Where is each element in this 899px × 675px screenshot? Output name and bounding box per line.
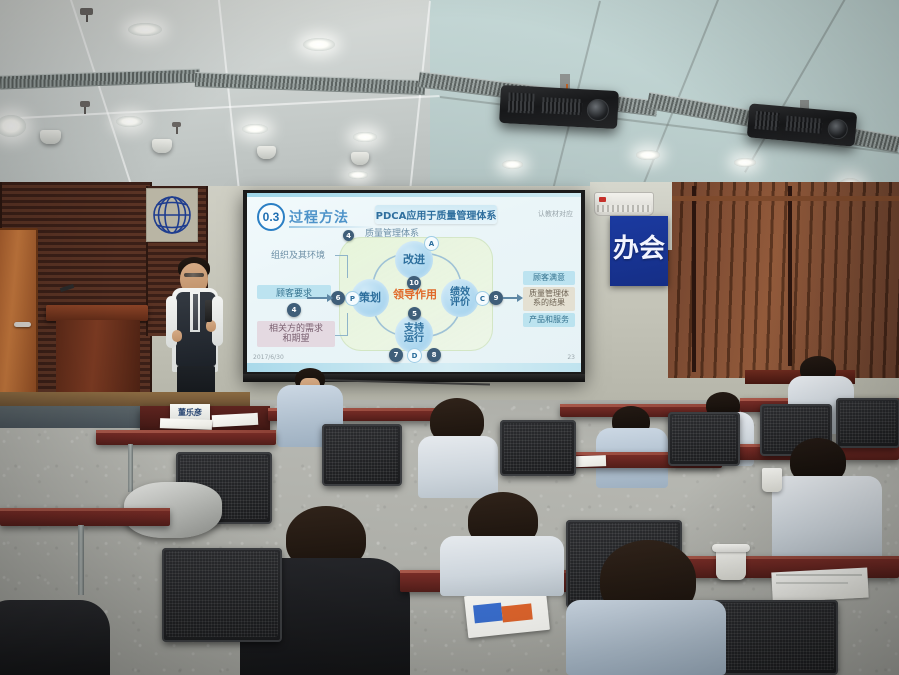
audience-member-7	[772, 476, 882, 562]
slide-section-number: 0.3	[257, 203, 285, 231]
pdca-node-plan-letter: P	[345, 291, 360, 306]
slide-banner-title: PDCA应用于质量管理体系	[375, 205, 497, 224]
chair[interactable]	[836, 398, 899, 448]
paper-stack	[212, 413, 259, 427]
wood-panel-texture	[668, 182, 899, 378]
sprinkler-head	[80, 101, 90, 107]
ceiling-downlight	[303, 38, 335, 51]
pdca-node-do-badge-left: 7	[389, 348, 403, 362]
title-underline	[289, 226, 375, 228]
slide-section-title: 过程方法	[289, 207, 349, 227]
ceiling-downlight	[502, 160, 523, 169]
booklet-cover-orange	[501, 603, 533, 622]
pdca-node-act-letter: A	[424, 236, 439, 251]
desk-leg	[128, 444, 133, 492]
node-plan-label: 策划	[359, 292, 381, 304]
qms-label: 质量管理体系	[357, 229, 427, 239]
pdca-node-plan-badge: 6	[331, 291, 345, 305]
pdca-node-check-badge: 9	[489, 291, 503, 305]
connector-arrow-line	[307, 297, 329, 299]
desk-row2-left	[96, 430, 276, 445]
presenter-tie	[193, 294, 198, 330]
globe-icon	[147, 189, 197, 241]
output-qms-results-line2: 系的结果	[533, 299, 565, 308]
ceiling-downlight	[636, 150, 660, 160]
conference-room-photo: 办会 0.3 过程方法 PDCA应用于质量管理体系 认教材对应 4 质量管理体系	[0, 0, 899, 675]
input-interested-line2: 和期望	[282, 334, 309, 344]
output-products-services: 产品和服务	[523, 313, 575, 327]
slide-bottom-bar	[247, 363, 581, 372]
presenter-glasses-icon	[184, 273, 204, 277]
floor-baseboard	[0, 392, 250, 406]
output-qms-results: 质量管理体 系的结果	[523, 287, 575, 311]
wall-banner: 办会	[610, 216, 668, 286]
slide-footer-left: 2017/6/30	[253, 354, 284, 361]
slide-footer-right: 23	[567, 354, 575, 361]
projection-screen: 0.3 过程方法 PDCA应用于质量管理体系 认教材对应 4 质量管理体系	[247, 193, 581, 372]
input-context-label: 组织及其环境	[259, 251, 337, 261]
pdca-node-check-letter: C	[475, 291, 490, 306]
door-handle-icon[interactable]	[14, 322, 31, 327]
audience-member-9	[566, 600, 726, 675]
paper-stack	[160, 418, 212, 430]
sprinkler-head	[80, 8, 93, 15]
input-customer-requirement-badge: 4	[287, 303, 301, 317]
desk-row3-left	[0, 508, 170, 526]
pdca-node-check: 绩效 评价	[441, 279, 479, 317]
ceiling-projector-front	[499, 85, 619, 129]
presenter-hand-left	[172, 330, 182, 342]
ceiling-speaker	[40, 130, 61, 144]
qms-badge: 4	[343, 230, 354, 241]
chair[interactable]	[668, 412, 740, 466]
audience-member-8	[440, 536, 564, 596]
leadership-label: 领导作用	[393, 289, 437, 301]
connector-arrow-head	[327, 294, 333, 302]
notebook-rule	[776, 574, 862, 576]
wall-banner-text: 办会	[610, 228, 668, 265]
input-interested-parties-label: 相关方的需求 和期望	[257, 321, 335, 347]
slide-top-bar	[247, 193, 581, 197]
audience-member-5	[418, 436, 498, 498]
audience-member-foreground-left	[0, 600, 110, 675]
node-act-label: 改进	[403, 254, 425, 266]
leadership-badge: 5	[408, 307, 421, 320]
coffee-cup	[762, 468, 782, 492]
cup-lid	[712, 544, 750, 552]
connector-bracket-bottom	[335, 313, 348, 336]
booklet-cover-blue	[473, 603, 503, 624]
pdca-node-do-letter: D	[407, 348, 422, 363]
chair-foreground[interactable]	[162, 548, 282, 642]
globe-emblem-plate	[146, 188, 198, 242]
node-do-label-2: 运行	[404, 334, 424, 345]
ceiling-speaker	[257, 146, 276, 159]
podium-top	[46, 305, 148, 321]
presenter-microphone	[205, 300, 212, 322]
sprinkler-head	[172, 122, 181, 127]
notebook-rule	[776, 582, 848, 584]
air-conditioner	[594, 192, 654, 216]
ceiling-downlight	[348, 171, 368, 179]
wood-panel-seam	[692, 186, 696, 372]
slide-surface: 0.3 过程方法 PDCA应用于质量管理体系 认教材对应 4 质量管理体系	[247, 193, 581, 372]
ceiling-downlight	[734, 158, 756, 167]
ceiling-downlight	[128, 23, 162, 36]
slide-corner-note: 认教材对应	[538, 209, 573, 219]
ac-indicator-light	[599, 197, 606, 202]
output-customer-satisfaction: 顾客满意	[523, 271, 575, 285]
desk-leg	[78, 525, 84, 595]
ceiling-downlight	[353, 132, 377, 142]
ceiling-downlight	[242, 124, 268, 134]
chair[interactable]	[322, 424, 402, 486]
wood-panel-seam	[788, 186, 792, 366]
ceiling-downlight	[116, 116, 143, 127]
chair[interactable]	[500, 420, 576, 476]
ceiling-speaker	[152, 139, 172, 153]
input-interested-line1: 相关方的需求	[269, 324, 323, 334]
wood-panel-rail	[668, 196, 899, 201]
pdca-node-do-badge-right: 8	[427, 348, 441, 362]
connector-bracket-top	[335, 255, 348, 278]
node-check-label-2: 评价	[450, 298, 470, 309]
notebook	[771, 568, 868, 603]
